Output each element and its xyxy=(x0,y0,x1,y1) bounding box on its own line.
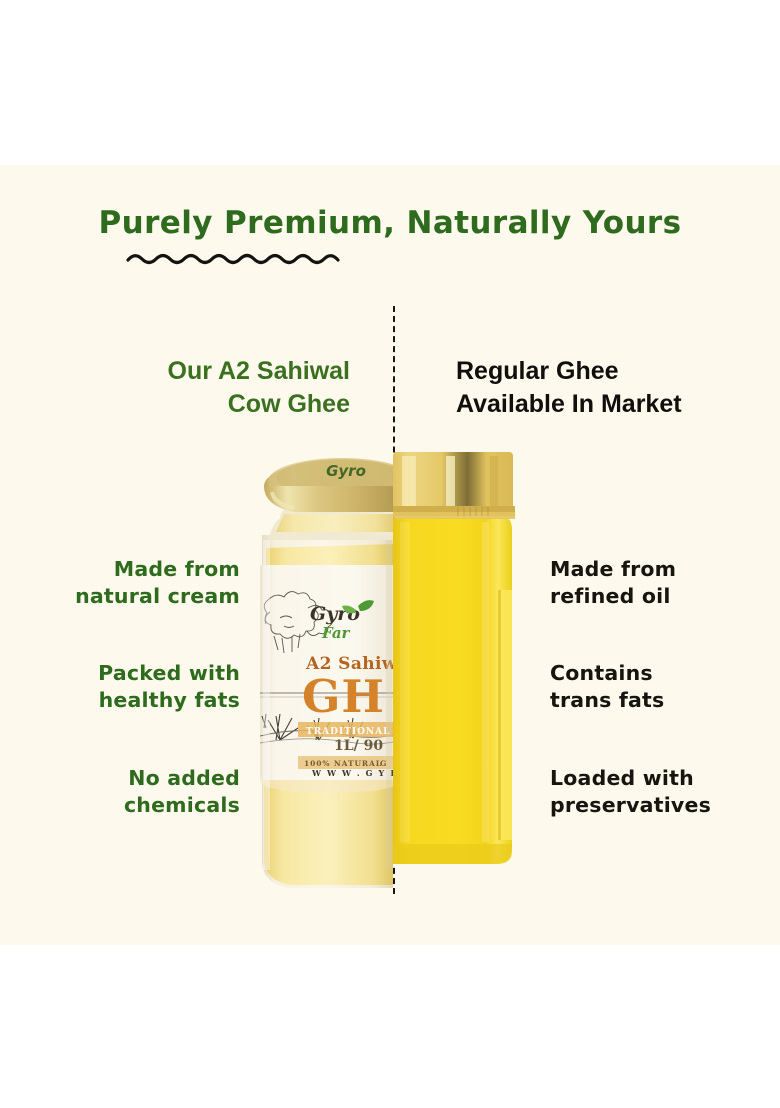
header-right-line1: Regular Ghee xyxy=(456,355,756,388)
label-product-name: GH xyxy=(302,670,385,723)
comparison-infographic: Purely Premium, Naturally Yours Our A2 S… xyxy=(0,0,780,1108)
product-jar-split-image: Gyro xyxy=(250,440,525,895)
page-title: Purely Premium, Naturally Yours xyxy=(0,205,780,241)
label-badge-right: G xyxy=(380,759,386,768)
feature-right-1: Contains trans fats xyxy=(550,660,765,714)
feature-left-2-line1: No added xyxy=(40,765,240,792)
feature-right-0-line1: Made from xyxy=(550,556,765,583)
feature-right-0-line2: refined oil xyxy=(550,583,765,610)
feature-left-2-line2: chemicals xyxy=(40,792,240,819)
feature-right-2-line1: Loaded with xyxy=(550,765,765,792)
feature-left-0-line1: Made from xyxy=(40,556,240,583)
feature-right-1-line2: trans fats xyxy=(550,687,765,714)
feature-right-1-line1: Contains xyxy=(550,660,765,687)
header-left-line2: Cow Ghee xyxy=(60,388,350,421)
feature-right-0: Made from refined oil xyxy=(550,556,765,610)
feature-left-2: No added chemicals xyxy=(40,765,240,819)
lid-brand-text: Gyro xyxy=(326,462,366,480)
column-header-left: Our A2 Sahiwal Cow Ghee xyxy=(60,355,350,421)
label-brand-sub: Far xyxy=(321,624,351,642)
feature-left-1-line2: healthy fats xyxy=(40,687,240,714)
wavy-underline-icon xyxy=(126,248,346,268)
header-right-line2: Available In Market xyxy=(456,388,756,421)
regular-jar-right-half xyxy=(393,452,515,864)
feature-right-2: Loaded with preservatives xyxy=(550,765,765,819)
feature-left-1: Packed with healthy fats xyxy=(40,660,240,714)
label-badge-left: 100% NATURAL xyxy=(304,759,382,768)
feature-left-0: Made from natural cream xyxy=(40,556,240,610)
label-volume: 1L/ 90 xyxy=(334,738,383,754)
feature-left-0-line2: natural cream xyxy=(40,583,240,610)
feature-left-1-line1: Packed with xyxy=(40,660,240,687)
feature-right-2-line2: preservatives xyxy=(550,792,765,819)
column-header-right: Regular Ghee Available In Market xyxy=(456,355,756,421)
label-brand-name: Gyro xyxy=(310,603,360,625)
header-left-line1: Our A2 Sahiwal xyxy=(60,355,350,388)
